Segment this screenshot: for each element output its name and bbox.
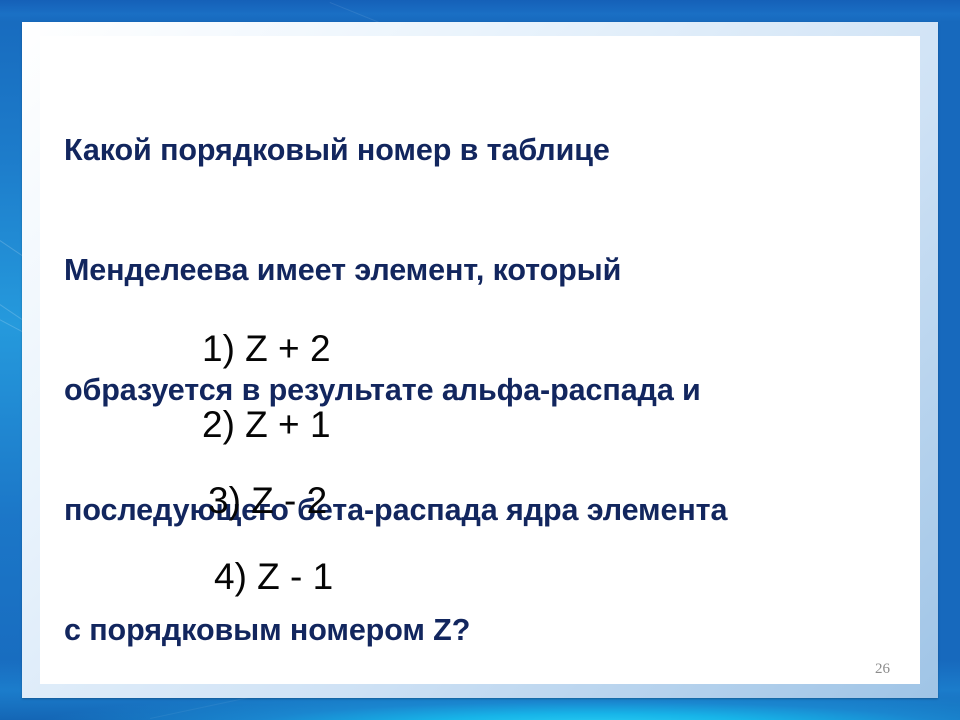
slide-content-area: Какой порядковый номер в таблице Менделе… — [40, 36, 920, 684]
answer-option-1[interactable]: 1) Z + 2 — [64, 311, 884, 387]
question-line-2: Менделеева имеет элемент, который — [64, 250, 864, 290]
answer-option-3[interactable]: 3) Z - 2 — [64, 463, 884, 539]
answer-option-4[interactable]: 4) Z - 1 — [64, 539, 884, 615]
slide-page-number: 26 — [875, 661, 890, 678]
question-line-1: Какой порядковый номер в таблице — [64, 130, 864, 170]
question-line-5: с порядковым номером Z? — [64, 610, 864, 650]
presentation-slide: Какой порядковый номер в таблице Менделе… — [0, 0, 960, 720]
answer-options-list: 1) Z + 2 2) Z + 1 3) Z - 2 4) Z - 1 — [64, 311, 884, 615]
answer-option-2[interactable]: 2) Z + 1 — [64, 387, 884, 463]
